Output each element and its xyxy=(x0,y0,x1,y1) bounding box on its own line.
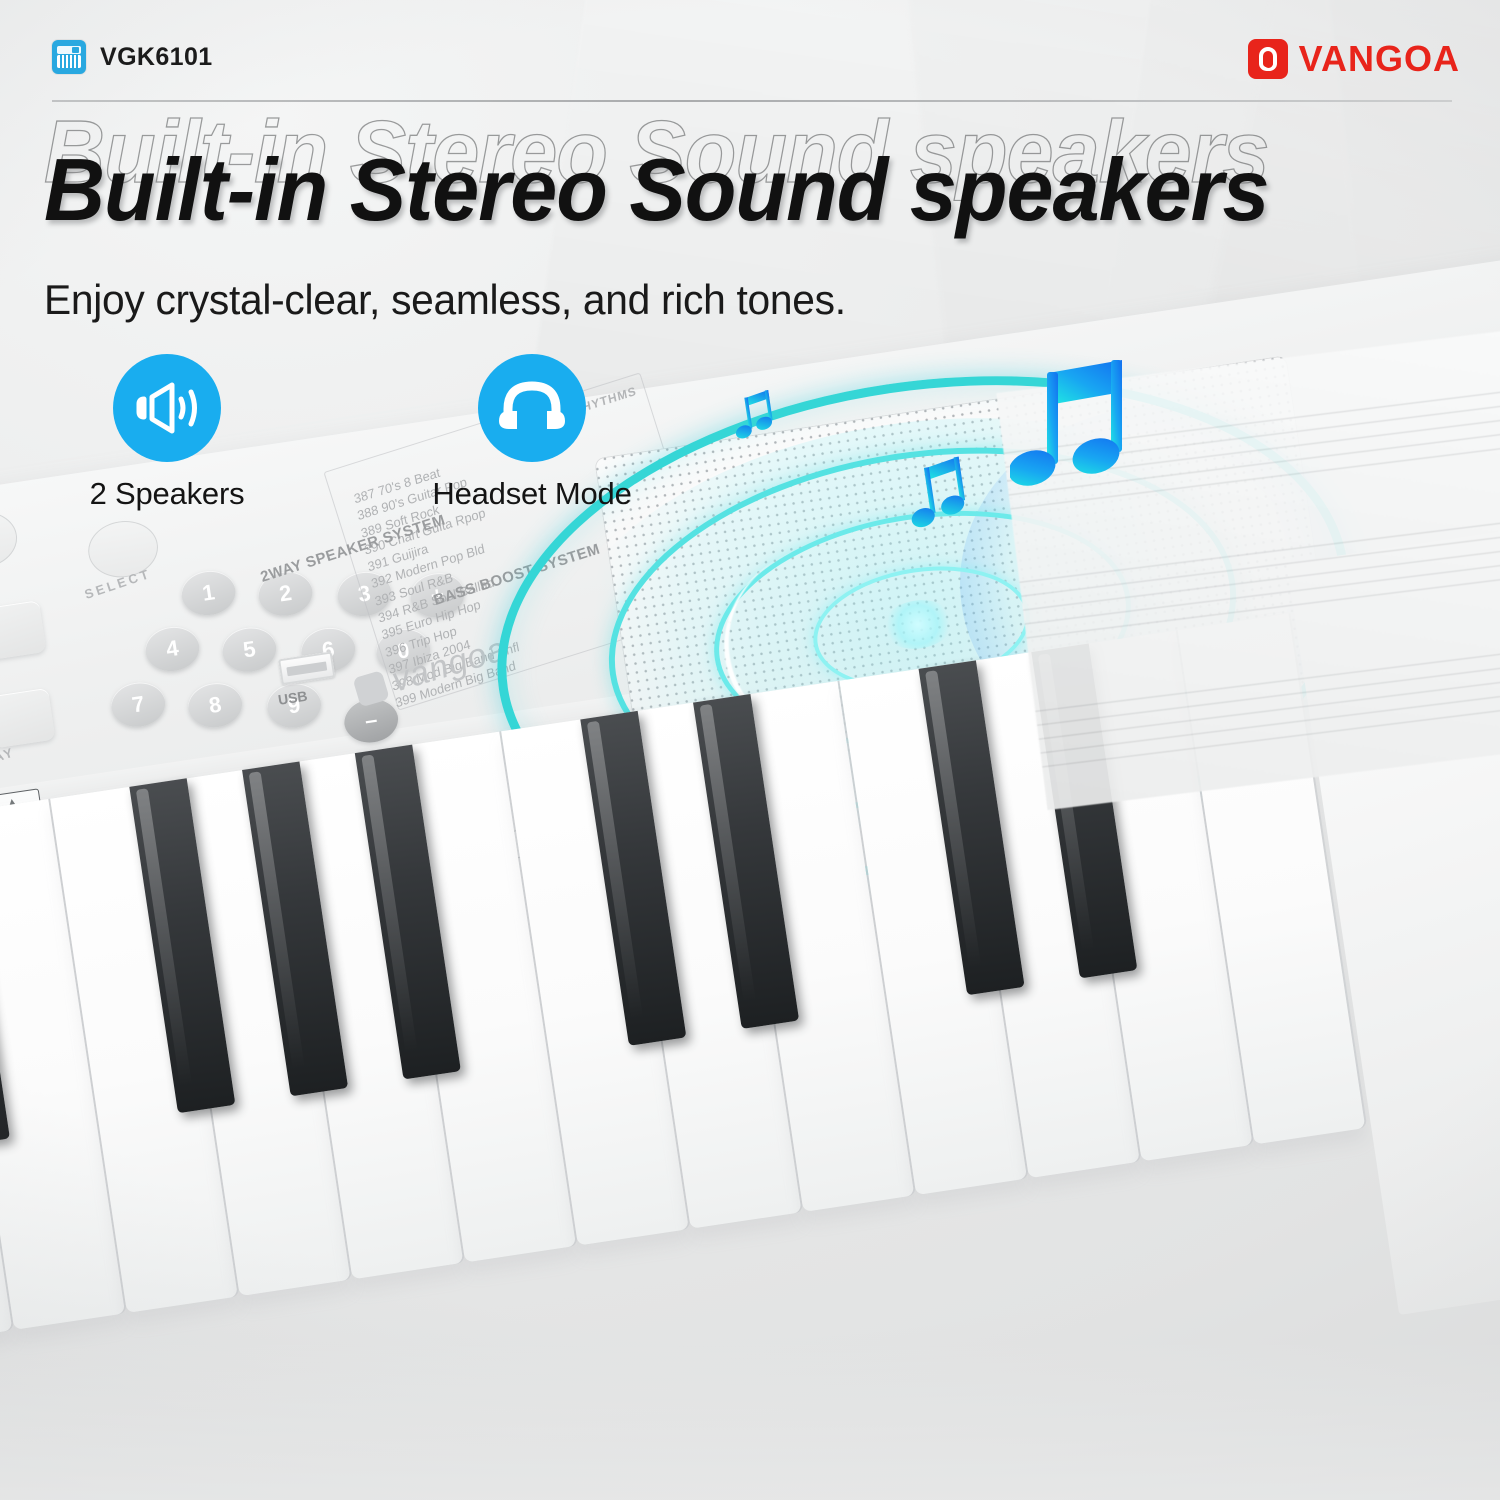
keyboard-icon xyxy=(52,40,86,74)
speaker-icon xyxy=(113,354,221,462)
feature-label-headset: Headset Mode xyxy=(432,476,631,512)
feature-badge-headset: Headset Mode xyxy=(437,354,627,512)
subheadline: Enjoy crystal-clear, seamless, and rich … xyxy=(44,276,846,324)
page-header: VGK6101 VANGOA xyxy=(0,0,1500,101)
keyboard-icon-keys xyxy=(57,55,81,68)
feature-badges: 2 Speakers Headset Mode xyxy=(72,354,627,512)
bottom-fade xyxy=(0,1340,1500,1500)
headline-block: Built-in Stereo Sound speakers Built-in … xyxy=(44,146,1474,266)
vangoa-logo-icon xyxy=(1248,39,1288,79)
feature-label-speakers: 2 Speakers xyxy=(90,476,245,512)
model-code: VGK6101 xyxy=(100,43,213,72)
feature-badge-speakers: 2 Speakers xyxy=(72,354,262,512)
page-title: Built-in Stereo Sound speakers xyxy=(44,146,1269,234)
headphones-icon xyxy=(478,354,586,462)
keyboard-icon-top xyxy=(57,46,81,54)
brand-name: VANGOA xyxy=(1299,38,1460,80)
model-badge: VGK6101 xyxy=(52,40,213,74)
product-feature-banner: TEMPO SELECT METRO PLAY 1 2 3 4 5 6 7 8 … xyxy=(0,0,1500,1500)
brand-logo: VANGOA xyxy=(1248,38,1460,80)
music-note-icon-large xyxy=(1010,358,1140,503)
